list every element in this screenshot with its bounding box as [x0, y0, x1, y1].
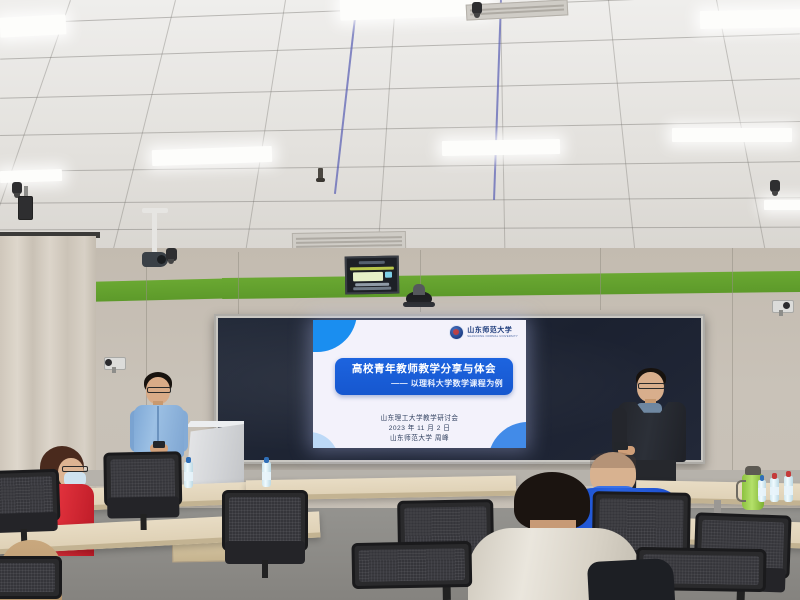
- university-logo-subline: SHANDONG NORMAL UNIVERSITY: [467, 335, 518, 338]
- slide-meta: 山东理工大学教学研讨会 2023 年 11 月 2 日 山东师范大学 周峰: [313, 414, 526, 445]
- ceiling-light: [442, 139, 560, 156]
- head-shading: [590, 452, 636, 468]
- sprinkler-icon: [318, 168, 323, 180]
- water-bottle[interactable]: [758, 480, 766, 502]
- water-bottle[interactable]: [184, 462, 193, 488]
- ceiling-light: [152, 146, 272, 166]
- glasses-icon: [638, 383, 665, 389]
- ceiling-speaker-icon: [166, 248, 177, 261]
- security-camera-icon: [104, 357, 126, 371]
- ceiling-microphone-icon: [770, 180, 780, 192]
- water-bottle[interactable]: [770, 478, 779, 502]
- slide-title-band: 高校青年教师教学分享与体会 —— 以理科大学数学课程为例: [335, 358, 513, 395]
- ceiling-light: [700, 9, 800, 29]
- glasses-icon: [147, 387, 171, 393]
- slide-meta-line-speaker: 山东师范大学 周峰: [313, 434, 526, 444]
- info-display-panel[interactable]: [345, 256, 400, 295]
- ceiling-light: [764, 200, 800, 210]
- ceiling-light: [672, 128, 792, 142]
- office-chair[interactable]: [103, 451, 182, 530]
- smartphone[interactable]: [614, 442, 628, 450]
- security-camera-icon: [770, 300, 794, 316]
- slide-meta-line-date: 2023 年 11 月 2 日: [313, 424, 526, 434]
- water-bottle[interactable]: [262, 462, 271, 487]
- slide-subtitle: —— 以理科大学数学课程为例: [339, 378, 509, 389]
- ceiling-light: [0, 169, 62, 183]
- office-chair[interactable]: [0, 556, 62, 600]
- ceiling: [0, 0, 800, 252]
- ptz-conference-camera-icon: [406, 291, 432, 306]
- office-chair[interactable]: [351, 541, 472, 600]
- office-chair[interactable]: [0, 469, 61, 546]
- water-bottle[interactable]: [784, 476, 793, 502]
- classroom-photo: 山东师范大学 SHANDONG NORMAL UNIVERSITY 高校青年教师…: [0, 0, 800, 600]
- slide-meta-line-event: 山东理工大学教学研讨会: [313, 414, 526, 424]
- ceiling-microphone-icon: [472, 2, 482, 14]
- slide-decor-blob: [313, 320, 357, 352]
- smartphone[interactable]: [153, 441, 165, 448]
- projector-mount-plate: [142, 208, 168, 213]
- university-logo: 山东师范大学 SHANDONG NORMAL UNIVERSITY: [449, 325, 518, 340]
- university-crest-icon: [449, 325, 464, 340]
- university-logo-name: 山东师范大学: [467, 327, 518, 334]
- office-chair[interactable]: [222, 490, 308, 578]
- lectern-podium[interactable]: [186, 424, 244, 486]
- slide-title: 高校青年教师教学分享与体会: [339, 363, 509, 375]
- ceiling-light: [0, 14, 66, 37]
- projection-screen[interactable]: 山东师范大学 SHANDONG NORMAL UNIVERSITY 高校青年教师…: [313, 320, 526, 448]
- draped-jacket: [587, 558, 675, 600]
- security-camera-icon: [16, 186, 36, 220]
- ceiling-projector-icon: [142, 252, 168, 267]
